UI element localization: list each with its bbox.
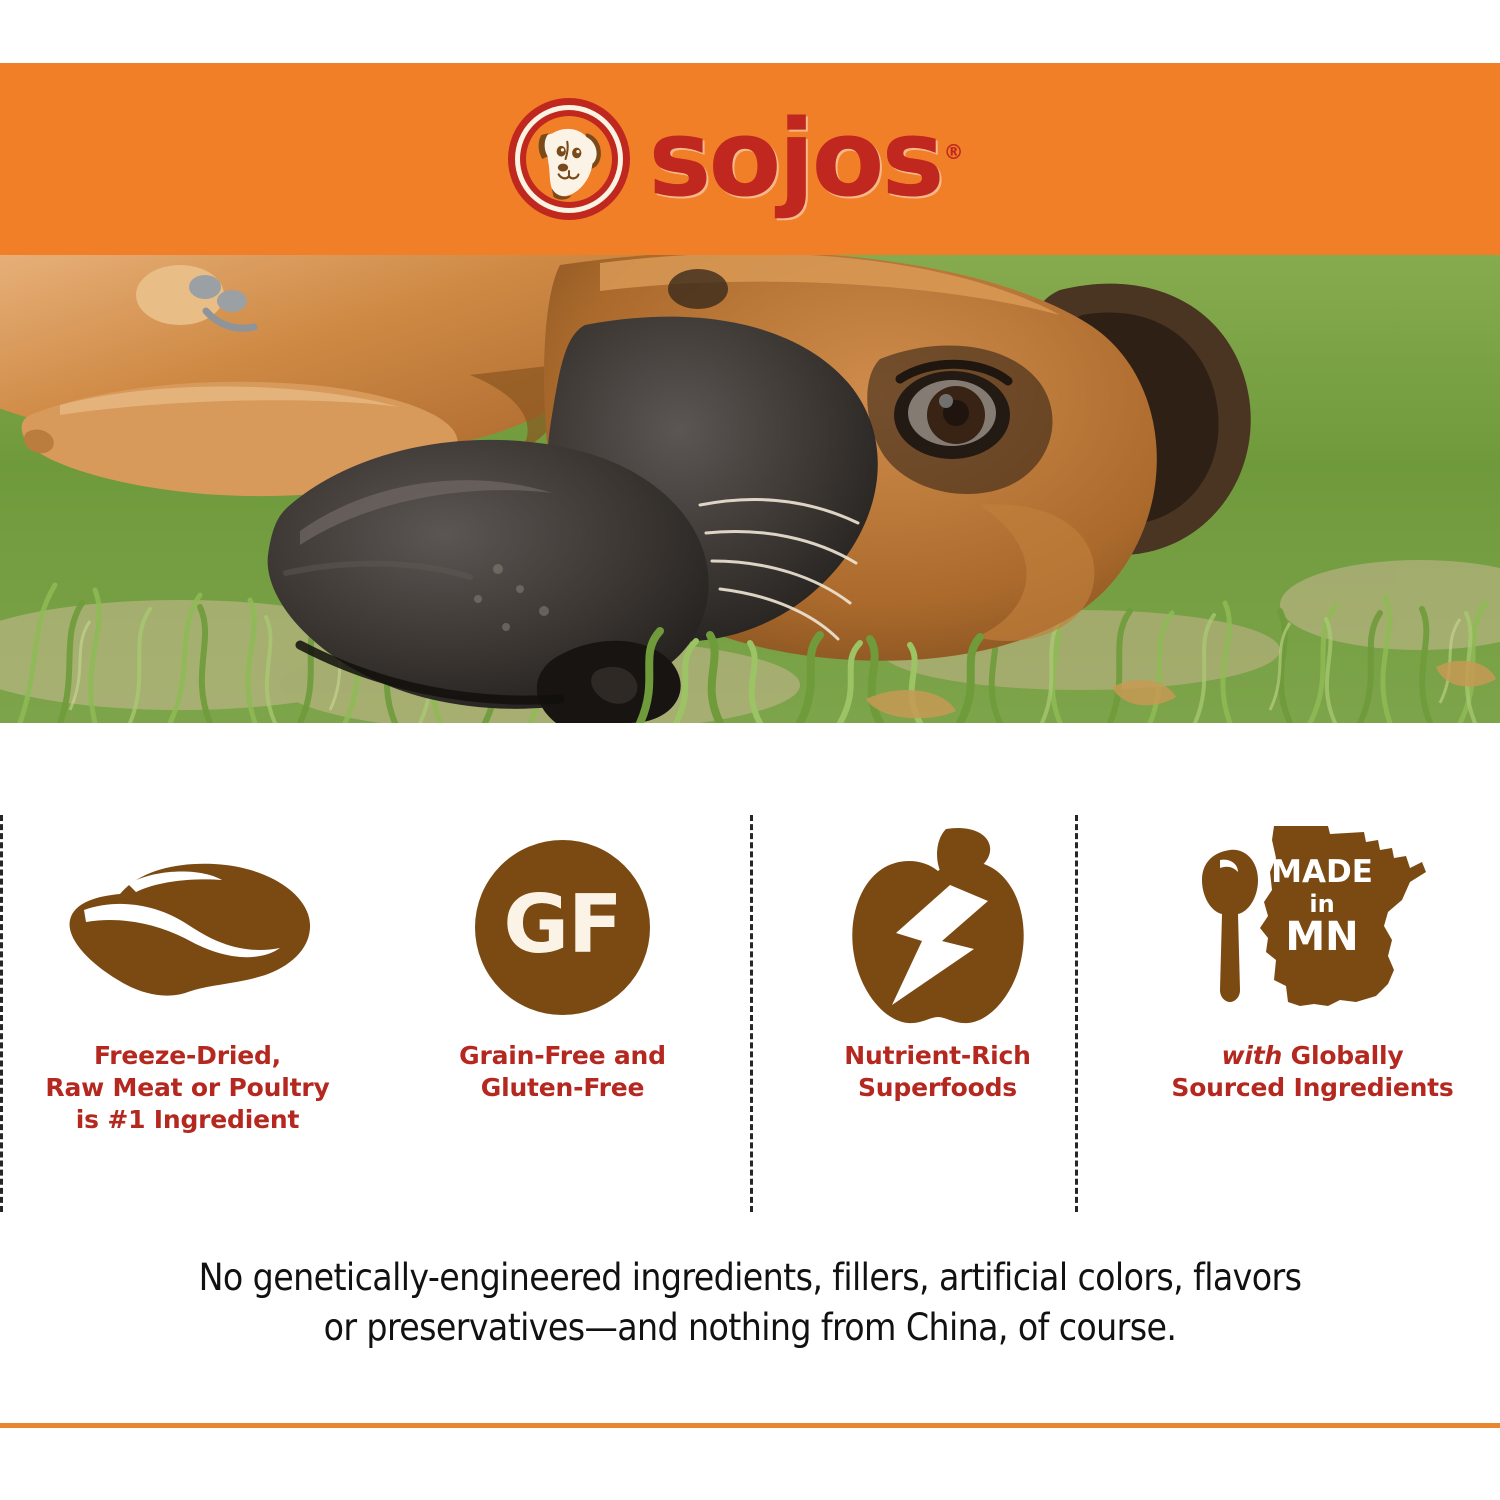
feature-caption-line: Raw Meat or Poultry <box>45 1072 329 1104</box>
feature-item-freeze-dried-meat: Freeze-Dried, Raw Meat or Poultry is #1 … <box>0 800 375 1230</box>
feature-caption-line: Grain-Free and <box>459 1040 666 1072</box>
feature-caption-line: Sourced Ingredients <box>1171 1072 1453 1104</box>
made-in-minnesota-spoon-icon: MADE in MN <box>1125 815 1500 1040</box>
bottom-accent-rule <box>0 1423 1500 1428</box>
feature-caption: with Globally Sourced Ingredients <box>1171 1040 1453 1104</box>
gf-badge-icon: GF <box>375 815 750 1040</box>
terrier-head-illustration <box>526 116 612 202</box>
steak-icon-glyph <box>62 858 314 998</box>
apple-icon-glyph <box>838 825 1038 1030</box>
feature-item-nutrient-rich: Nutrient-Rich Superfoods <box>750 800 1125 1230</box>
feature-caption-line: with Globally <box>1171 1040 1453 1072</box>
feature-caption-line: Nutrient-Rich <box>844 1040 1031 1072</box>
disclaimer-line-2: or preservatives—and nothing from China,… <box>75 1303 1425 1353</box>
sojos-product-feature-panel: sojos® <box>0 0 1500 1500</box>
feature-caption: Grain-Free and Gluten-Free <box>459 1040 666 1104</box>
badge-orange-field <box>526 116 612 202</box>
feature-caption-line: Superfoods <box>844 1072 1031 1104</box>
steak-meat-cut-icon <box>0 815 375 1040</box>
disclaimer-text: No genetically-engineered ingredients, f… <box>75 1253 1425 1354</box>
feature-caption-line: Gluten-Free <box>459 1072 666 1104</box>
gf-circle-shape: GF <box>475 840 650 1015</box>
disclaimer-line-1: No genetically-engineered ingredients, f… <box>75 1253 1425 1303</box>
gf-badge-text: GF <box>503 878 621 971</box>
registered-trademark-symbol: ® <box>944 140 964 164</box>
hero-photo-illustration <box>0 255 1500 723</box>
brand-logo-lockup[interactable]: sojos® <box>508 98 963 220</box>
apple-lightning-bolt-icon <box>750 815 1125 1040</box>
feature-caption: Freeze-Dried, Raw Meat or Poultry is #1 … <box>45 1040 329 1136</box>
feature-caption-rest: Globally <box>1282 1041 1403 1070</box>
hero-dog-photo <box>0 255 1500 723</box>
with-italic-word: with <box>1222 1041 1283 1070</box>
sojos-dog-badge-icon <box>508 98 630 220</box>
feature-caption-line: Freeze-Dried, <box>45 1040 329 1072</box>
mn-label: MN <box>1285 914 1358 960</box>
feature-caption: Nutrient-Rich Superfoods <box>844 1040 1031 1104</box>
feature-row: Freeze-Dried, Raw Meat or Poultry is #1 … <box>0 800 1500 1230</box>
minnesota-spoon-icon-glyph: MADE in MN <box>1188 820 1438 1035</box>
brand-header-band: sojos® <box>0 63 1500 255</box>
feature-caption-line: is #1 Ingredient <box>45 1104 329 1136</box>
made-label: MADE <box>1271 854 1373 890</box>
feature-item-made-in-mn: MADE in MN with Globally Sourced Ingredi… <box>1125 800 1500 1230</box>
brand-wordmark: sojos® <box>648 114 963 203</box>
brand-wordmark-text: sojos <box>648 97 941 220</box>
feature-item-grain-free: GF Grain-Free and Gluten-Free <box>375 800 750 1230</box>
